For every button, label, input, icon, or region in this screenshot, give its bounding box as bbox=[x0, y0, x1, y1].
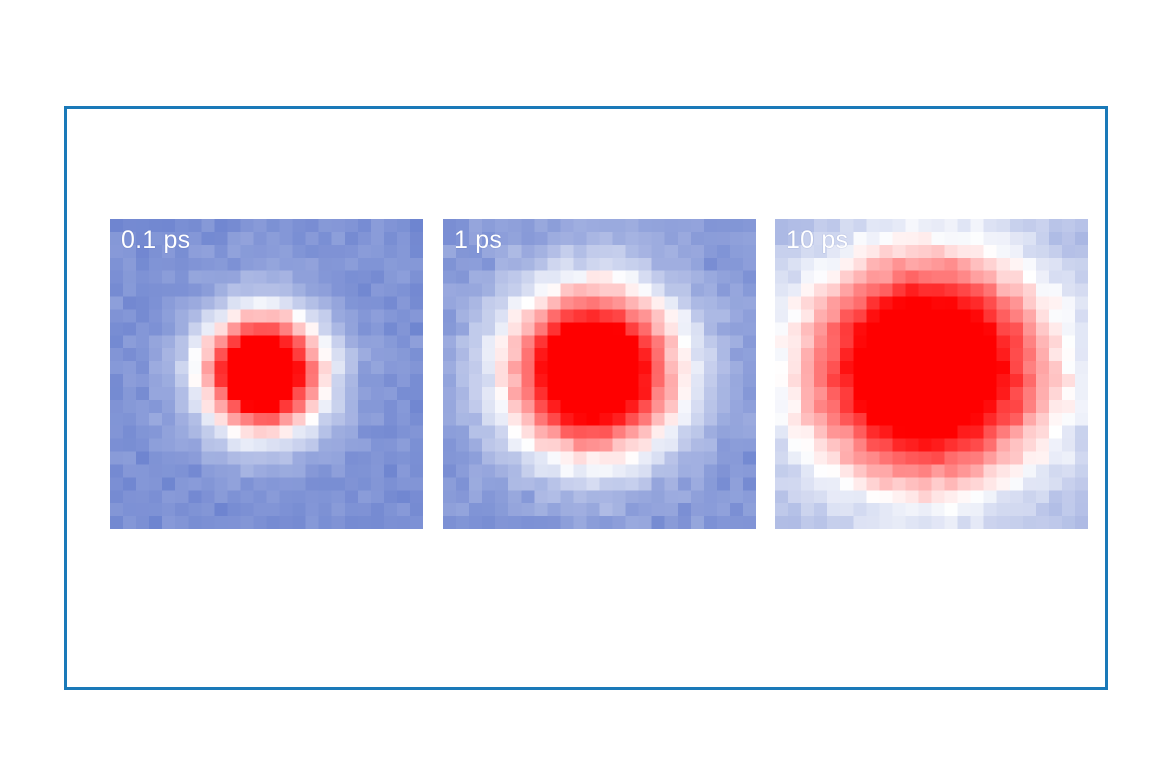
heatmap-panel-10ps: 10 ps bbox=[775, 219, 1088, 529]
figure-frame: 0.1 ps 1 ps 10 ps bbox=[64, 106, 1108, 690]
heatmap-panel-0p1ps: 0.1 ps bbox=[110, 219, 423, 529]
heatmap-panel-1ps: 1 ps bbox=[443, 219, 756, 529]
heatmap-canvas-1ps bbox=[443, 219, 756, 529]
figure-root: 0.1 ps 1 ps 10 ps bbox=[0, 0, 1170, 780]
heatmap-canvas-0p1ps bbox=[110, 219, 423, 529]
heatmap-canvas-10ps bbox=[775, 219, 1088, 529]
heatmap-panel-row: 0.1 ps 1 ps 10 ps bbox=[110, 219, 1088, 529]
